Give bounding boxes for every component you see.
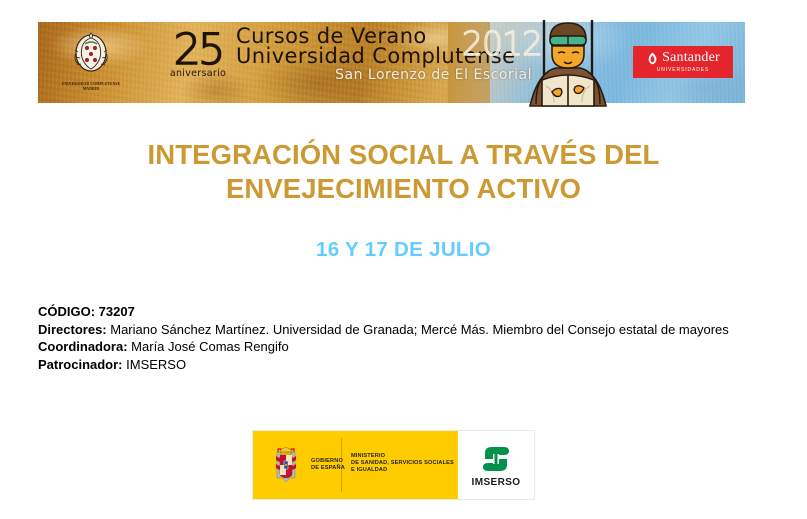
page-title: INTEGRACIÓN SOCIAL A TRAVÉS DEL ENVEJECI… bbox=[0, 138, 807, 206]
detail-codigo: CÓDIGO: 73207 bbox=[38, 303, 756, 321]
anniversary-mark: 25 aniversario bbox=[150, 29, 246, 79]
ucm-logo-caption: UNIVERSIDAD COMPLUTENSE MADRID bbox=[60, 82, 122, 91]
detail-directores-label: Directores: bbox=[38, 322, 107, 337]
gobierno-label: GOBIERNO DE ESPAÑA bbox=[311, 458, 345, 472]
ministerio-label: MINISTERIO DE SANIDAD, SERVICIOS SOCIALE… bbox=[351, 453, 454, 475]
event-dates: 16 Y 17 DE JULIO bbox=[0, 238, 807, 262]
page-title-line1: INTEGRACIÓN SOCIAL A TRAVÉS DEL bbox=[0, 138, 807, 172]
detail-coordinadora-label: Coordinadora: bbox=[38, 339, 128, 354]
footer-logo-strip: GOBIERNO DE ESPAÑA MINISTERIO DE SANIDAD… bbox=[252, 430, 535, 500]
santander-subtitle: UNIVERSIDADES bbox=[657, 67, 710, 73]
course-series-title: 2012 Cursos de Verano Universidad Complu… bbox=[236, 24, 536, 84]
imserso-logo-icon bbox=[479, 443, 513, 475]
course-location: San Lorenzo de El Escorial bbox=[236, 67, 536, 84]
detail-patrocinador-value: IMSERSO bbox=[123, 357, 187, 372]
detail-directores: Directores: Mariano Sánchez Martínez. Un… bbox=[38, 321, 756, 339]
imserso-label: IMSERSO bbox=[472, 477, 521, 488]
page-title-line2: ENVEJECIMIENTO ACTIVO bbox=[0, 172, 807, 206]
ucm-logo: UNIVERSIDAD COMPLUTENSE MADRID bbox=[60, 28, 122, 98]
ucm-crest-icon bbox=[68, 28, 114, 76]
detail-coordinadora: Coordinadora: María José Comas Rengifo bbox=[38, 338, 756, 356]
detail-directores-value: Mariano Sánchez Martínez. Universidad de… bbox=[107, 322, 729, 337]
aviator-reading-book-illustration bbox=[508, 20, 628, 110]
santander-flame-icon bbox=[646, 52, 659, 65]
anniversary-number: 25 bbox=[150, 29, 246, 71]
spain-coat-of-arms-icon bbox=[267, 442, 305, 488]
detail-codigo-label: CÓDIGO: bbox=[38, 304, 95, 319]
detail-codigo-value: 73207 bbox=[95, 304, 135, 319]
detail-coordinadora-value: María José Comas Rengifo bbox=[128, 339, 289, 354]
event-banner: UNIVERSIDAD COMPLUTENSE MADRID 25 aniver… bbox=[38, 22, 745, 103]
detail-patrocinador-label: Patrocinador: bbox=[38, 357, 123, 372]
gobierno-de-espana-block: GOBIERNO DE ESPAÑA MINISTERIO DE SANIDAD… bbox=[253, 431, 458, 499]
santander-logo-row: Santander bbox=[646, 51, 720, 65]
detail-patrocinador: Patrocinador: IMSERSO bbox=[38, 356, 756, 374]
santander-name: Santander bbox=[662, 51, 720, 65]
imserso-block: IMSERSO bbox=[458, 431, 534, 499]
santander-sponsor-logo: Santander UNIVERSIDADES bbox=[633, 46, 733, 78]
course-details: CÓDIGO: 73207 Directores: Mariano Sánche… bbox=[38, 303, 756, 373]
anniversary-label: aniversario bbox=[150, 68, 246, 79]
